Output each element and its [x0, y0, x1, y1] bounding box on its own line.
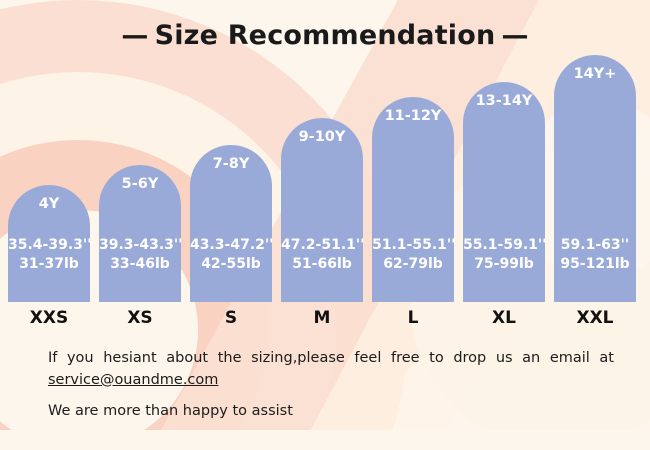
size-bar-xxl: 14Y+ 59.1-63'' 95-121lb — [554, 55, 636, 302]
size-bar-l: 11-12Y 51.1-55.1'' 62-79lb — [372, 97, 454, 302]
size-label-l: L — [372, 310, 454, 327]
bar-metrics-xxl: 59.1-63'' 95-121lb — [554, 236, 636, 274]
bar-height-l: 51.1-55.1'' — [372, 236, 454, 255]
size-bar-xl: 13-14Y 55.1-59.1'' 75-99lb — [463, 82, 545, 302]
bar-metrics-m: 47.2-51.1'' 51-66lb — [281, 236, 363, 274]
size-bar-m: 9-10Y 47.2-51.1'' 51-66lb — [281, 118, 363, 302]
footer-assist-line: We are more than happy to assist — [48, 401, 614, 421]
bar-metrics-xs: 39.3-43.3'' 33-46lb — [99, 236, 181, 274]
size-label-s: S — [190, 310, 272, 327]
bar-age-xxl: 14Y+ — [554, 67, 636, 83]
footer-contact-block: If you hesiant about the sizing,please f… — [48, 348, 614, 421]
bar-height-xxl: 59.1-63'' — [554, 236, 636, 255]
bar-metrics-xl: 55.1-59.1'' 75-99lb — [463, 236, 545, 274]
size-label-m: M — [281, 310, 363, 327]
size-bar-xxs: 4Y 35.4-39.3'' 31-37lb — [8, 185, 90, 302]
bar-weight-m: 51-66lb — [281, 255, 363, 274]
bar-age-xl: 13-14Y — [463, 94, 545, 110]
bar-weight-s: 42-55lb — [190, 255, 272, 274]
bar-weight-xs: 33-46lb — [99, 255, 181, 274]
bar-metrics-l: 51.1-55.1'' 62-79lb — [372, 236, 454, 274]
size-label-xl: XL — [463, 310, 545, 327]
bar-height-xl: 55.1-59.1'' — [463, 236, 545, 255]
bar-weight-l: 62-79lb — [372, 255, 454, 274]
size-label-xs: XS — [99, 310, 181, 327]
size-recommendation-chart: —Size Recommendation— 4Y 35.4-39.3'' 31-… — [0, 0, 650, 450]
bar-age-s: 7-8Y — [190, 157, 272, 173]
footer-contact-text: If you hesiant about the sizing,please f… — [48, 350, 614, 366]
bar-age-m: 9-10Y — [281, 130, 363, 146]
bar-height-xxs: 35.4-39.3'' — [8, 236, 90, 255]
bar-weight-xxs: 31-37lb — [8, 255, 90, 274]
bar-height-s: 43.3-47.2'' — [190, 236, 272, 255]
bar-age-xxs: 4Y — [8, 197, 90, 213]
support-email-link[interactable]: service@ouandme.com — [48, 372, 218, 388]
bar-age-l: 11-12Y — [372, 109, 454, 125]
bar-weight-xxl: 95-121lb — [554, 255, 636, 274]
bar-height-m: 47.2-51.1'' — [281, 236, 363, 255]
bar-age-xs: 5-6Y — [99, 177, 181, 193]
bar-metrics-s: 43.3-47.2'' 42-55lb — [190, 236, 272, 274]
bar-metrics-xxs: 35.4-39.3'' 31-37lb — [8, 236, 90, 274]
bar-height-xs: 39.3-43.3'' — [99, 236, 181, 255]
footer-contact-line: If you hesiant about the sizing,please f… — [48, 348, 614, 392]
size-bar-s: 7-8Y 43.3-47.2'' 42-55lb — [190, 145, 272, 302]
size-label-xxs: XXS — [8, 310, 90, 327]
bar-weight-xl: 75-99lb — [463, 255, 545, 274]
size-bar-xs: 5-6Y 39.3-43.3'' 33-46lb — [99, 165, 181, 302]
size-label-xxl: XXL — [554, 310, 636, 327]
